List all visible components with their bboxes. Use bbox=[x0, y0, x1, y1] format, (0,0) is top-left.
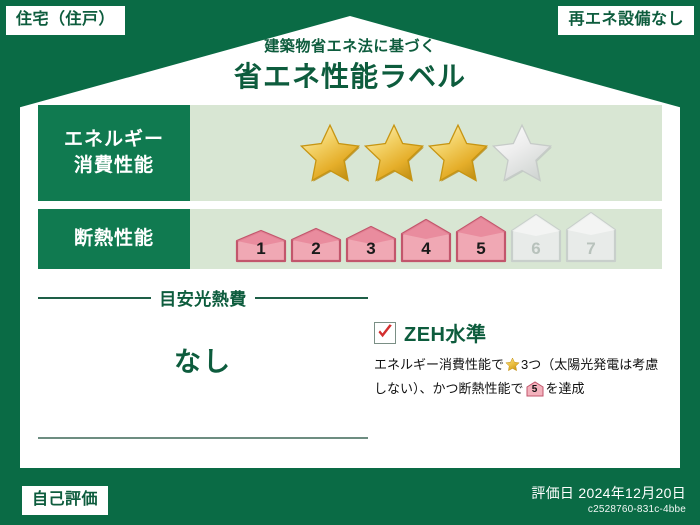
insulation-level-value: 4 bbox=[400, 239, 452, 259]
star-rating bbox=[299, 122, 553, 184]
zeh-standard-block: ZEH水準 エネルギー消費性能で3つ（太陽光発電は考慮しない）、かつ断熱性能で5… bbox=[374, 318, 664, 400]
star-filled-icon bbox=[427, 122, 489, 184]
insulation-level-value: 1 bbox=[235, 239, 287, 259]
insulation-level-value: 7 bbox=[565, 239, 617, 259]
insulation-label-text: 断熱性能 bbox=[74, 226, 154, 252]
check-icon bbox=[376, 323, 394, 341]
utility-cost-bottom-rule bbox=[38, 437, 368, 439]
insulation-performance-label: 断熱性能 bbox=[38, 209, 190, 269]
insulation-level-value: 6 bbox=[510, 239, 562, 259]
zeh-title: ZEH水準 bbox=[404, 318, 487, 347]
insulation-performance-value: 1234567 bbox=[190, 209, 662, 269]
insulation-level-4: 4 bbox=[400, 218, 452, 263]
inline-level-badge: 5 bbox=[526, 381, 544, 397]
insulation-performance-row: 断熱性能 1234567 bbox=[38, 209, 662, 269]
zeh-desc-part3: を達成 bbox=[546, 381, 585, 396]
star-empty-icon bbox=[491, 122, 553, 184]
inline-level-value: 5 bbox=[526, 382, 544, 399]
zeh-title-row: ZEH水準 bbox=[374, 318, 664, 347]
insulation-level-value: 2 bbox=[290, 239, 342, 259]
energy-performance-value bbox=[190, 105, 662, 201]
insulation-level-6: 6 bbox=[510, 213, 562, 263]
star-filled-icon bbox=[363, 122, 425, 184]
star-filled-icon bbox=[299, 122, 361, 184]
insulation-level-5: 5 bbox=[455, 215, 507, 263]
energy-label-line1: エネルギー bbox=[64, 127, 164, 153]
zeh-description: エネルギー消費性能で3つ（太陽光発電は考慮しない）、かつ断熱性能で5を達成 bbox=[374, 354, 664, 400]
utility-cost-title: 目安光熱費 bbox=[159, 285, 247, 310]
zeh-desc-part1: エネルギー消費性能で bbox=[374, 357, 504, 372]
renewable-equipment-tag: 再エネ設備なし bbox=[558, 6, 694, 35]
utility-cost-heading: 目安光熱費 bbox=[38, 285, 368, 310]
insulation-level-value: 3 bbox=[345, 239, 397, 259]
zeh-checkbox[interactable] bbox=[374, 322, 396, 344]
energy-performance-label: 住宅（住戸） 再エネ設備なし 建築物省エネ法に基づく 省エネ性能ラベル エネルギ… bbox=[0, 0, 700, 525]
performance-rows: エネルギー 消費性能 断熱性能 1234567 bbox=[38, 105, 662, 277]
evaluation-date: 評価日 2024年12月20日 bbox=[531, 484, 686, 502]
building-type-tag: 住宅（住戸） bbox=[6, 6, 125, 35]
energy-performance-label: エネルギー 消費性能 bbox=[38, 105, 190, 201]
utility-cost-value: なし bbox=[38, 340, 368, 379]
cost-rule-right bbox=[255, 297, 368, 299]
insulation-level-scale: 1234567 bbox=[235, 211, 617, 267]
insulation-level-value: 5 bbox=[455, 239, 507, 259]
evaluation-id: c2528760-831c-4bbe bbox=[531, 504, 686, 515]
self-assessment-tag: 自己評価 bbox=[22, 486, 108, 515]
footer-evaluation-info: 評価日 2024年12月20日 c2528760-831c-4bbe bbox=[531, 484, 686, 515]
cost-rule-left bbox=[38, 297, 151, 299]
insulation-level-3: 3 bbox=[345, 225, 397, 263]
insulation-level-7: 7 bbox=[565, 211, 617, 263]
insulation-level-1: 1 bbox=[235, 229, 287, 263]
energy-performance-row: エネルギー 消費性能 bbox=[38, 105, 662, 201]
insulation-level-2: 2 bbox=[290, 227, 342, 263]
energy-label-line2: 消費性能 bbox=[74, 153, 154, 179]
inline-star-icon bbox=[505, 357, 520, 378]
